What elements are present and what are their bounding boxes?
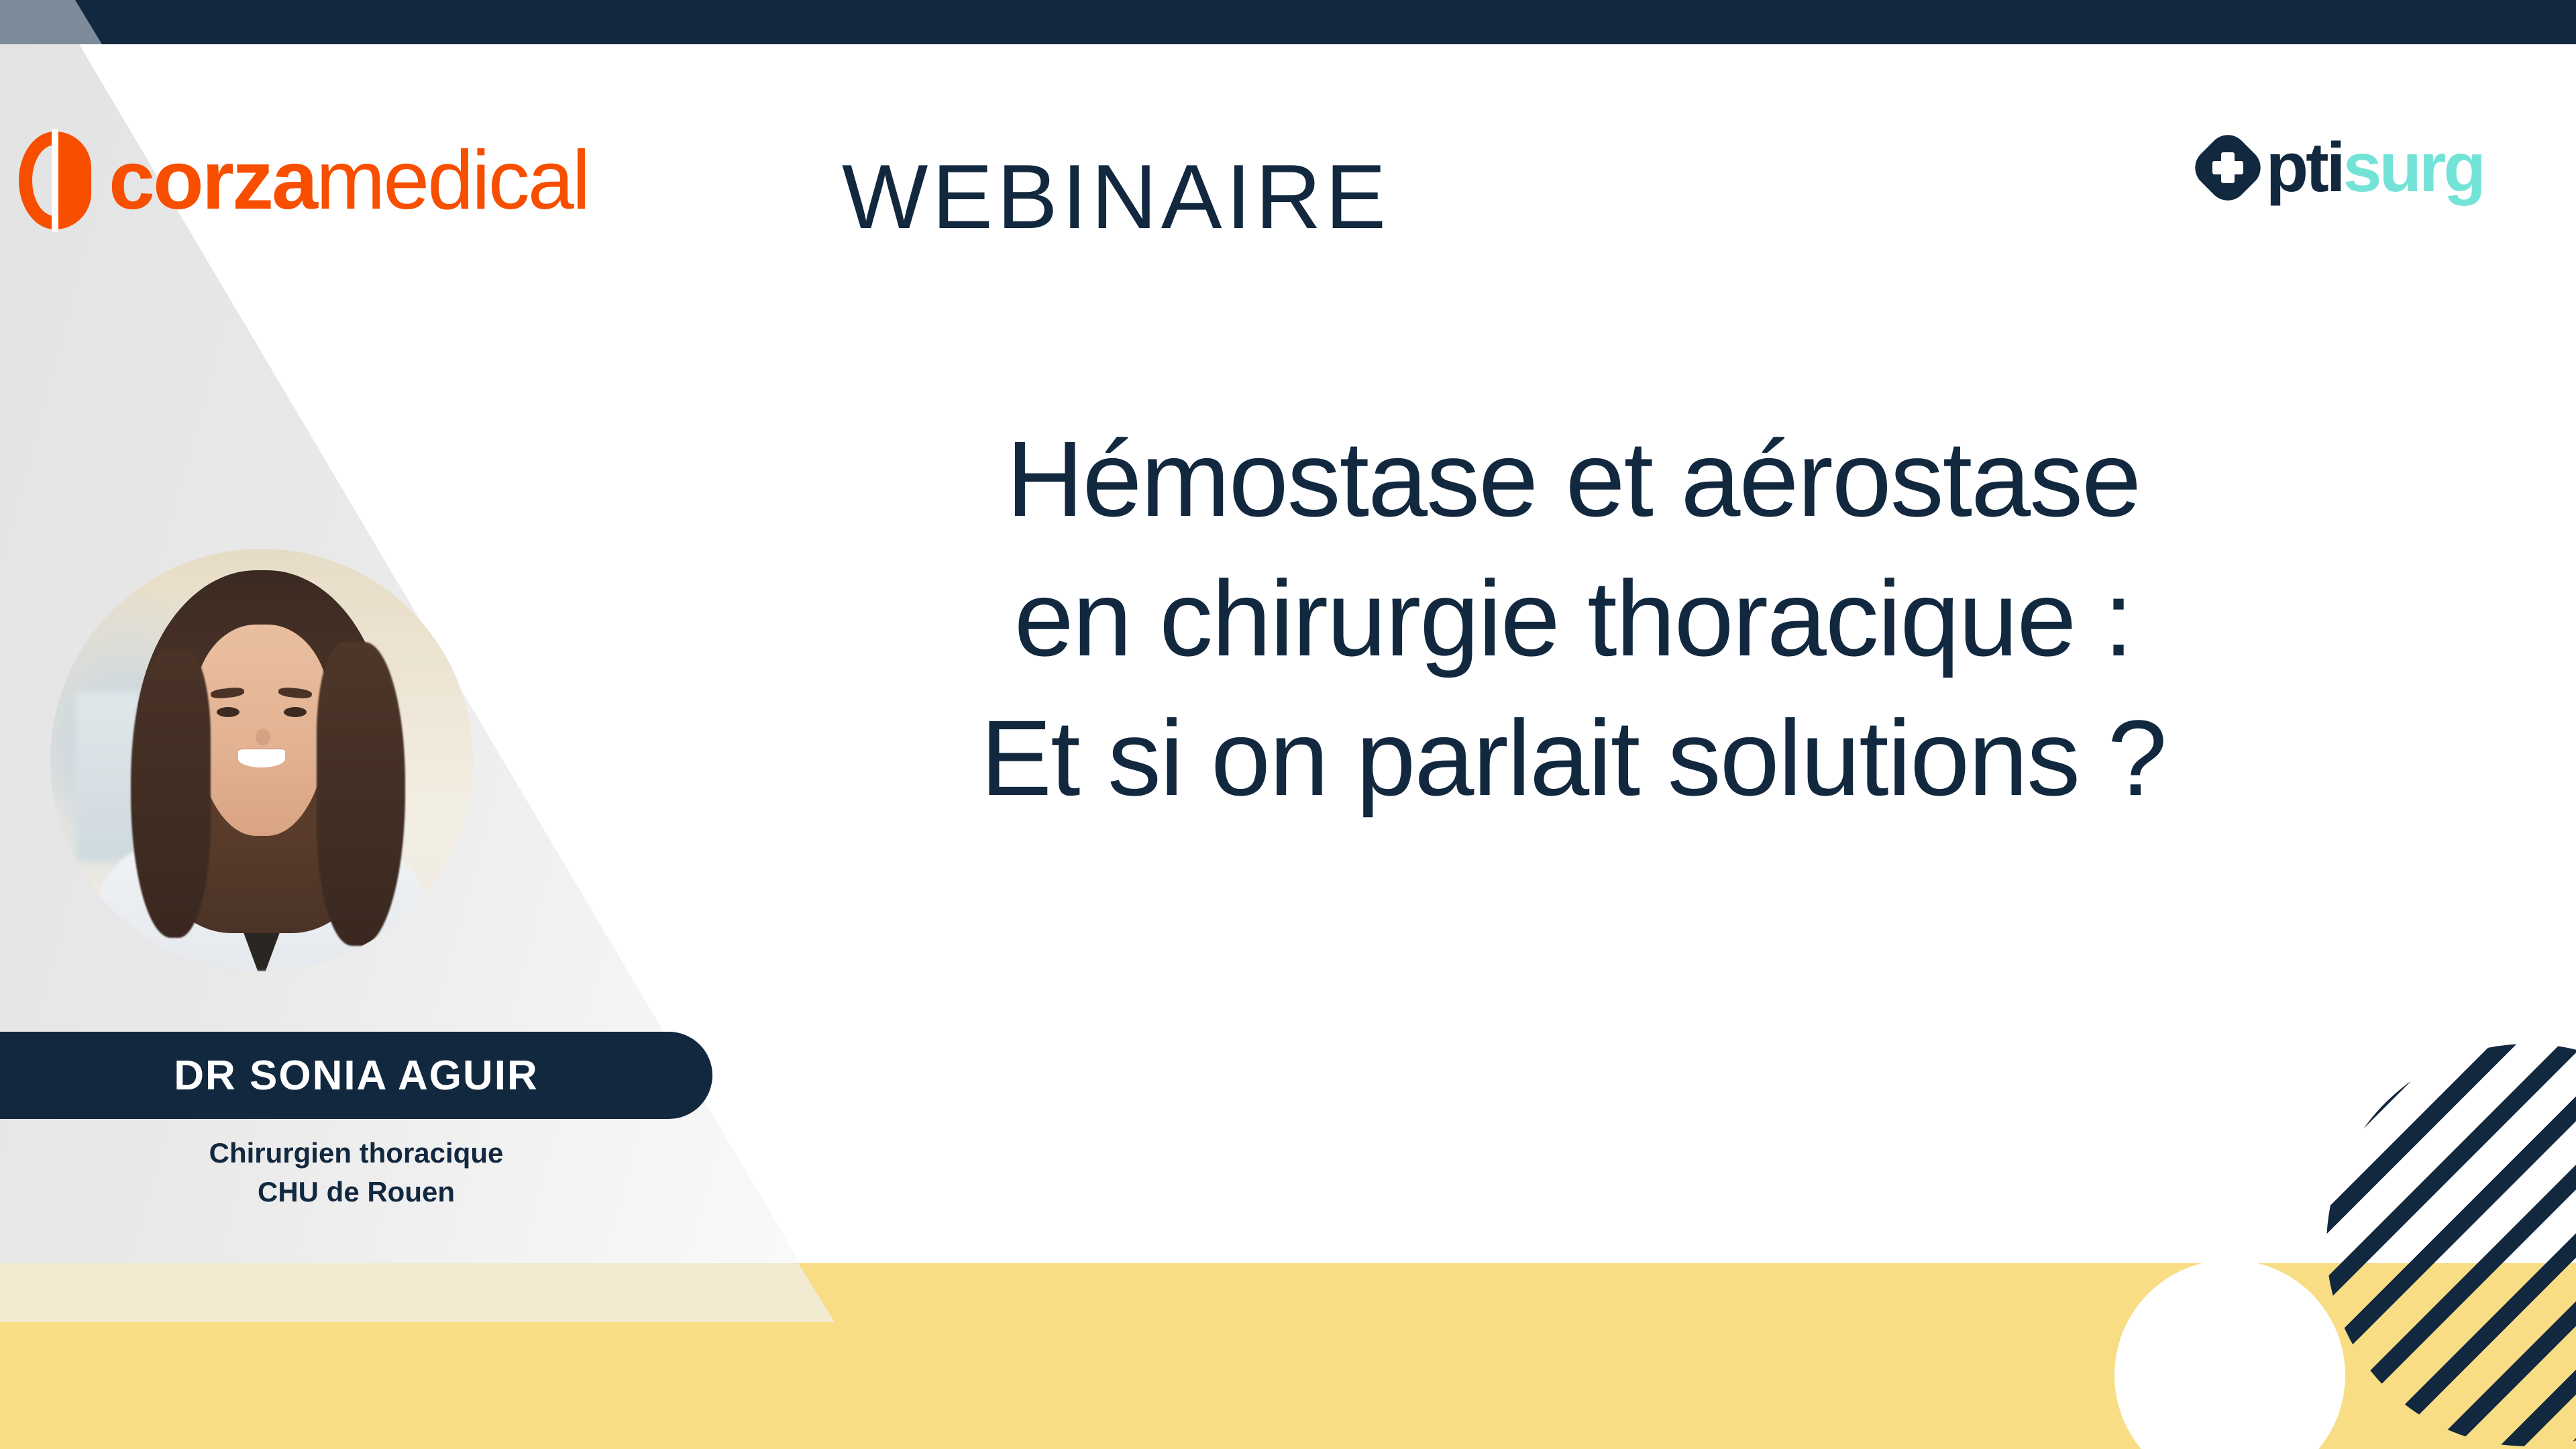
speaker-institution: CHU de Rouen	[0, 1173, 712, 1212]
speaker-avatar	[50, 549, 473, 971]
title-line-3: Et si on parlait solutions ?	[637, 688, 2509, 828]
speaker-role: Chirurgien thoracique	[0, 1134, 712, 1173]
page-title: Hémostase et aérostase en chirurgie thor…	[637, 409, 2509, 828]
corzamedical-logo[interactable]: corzamedical	[19, 131, 588, 229]
webinaire-eyebrow: WEBINAIRE	[842, 151, 1390, 242]
slide-canvas: corzamedical ptisurg WEBINAIRE Hémostase…	[0, 0, 2576, 1449]
corza-circle-mark-icon	[19, 131, 91, 229]
optisurg-logo[interactable]: ptisurg	[2199, 133, 2483, 203]
corzamedical-wordmark: corzamedical	[109, 139, 588, 222]
speaker-name: DR SONIA AGUIR	[174, 1052, 539, 1099]
opti-word-teal: surg	[2343, 129, 2483, 207]
speaker-credentials: Chirurgien thoracique CHU de Rouen	[0, 1134, 712, 1212]
opti-word-dark: pti	[2266, 129, 2343, 207]
corza-word-bold: corza	[109, 134, 316, 227]
corza-word-light: medical	[316, 134, 588, 227]
title-line-1: Hémostase et aérostase	[637, 409, 2509, 549]
title-line-2: en chirurgie thoracique :	[637, 549, 2509, 688]
grey-wedge-over-yellow	[0, 1263, 845, 1324]
optisurg-wordmark: ptisurg	[2266, 133, 2483, 203]
medical-cross-diamond-icon	[2199, 139, 2257, 197]
navy-top-bar	[0, 0, 2576, 44]
speaker-name-badge: DR SONIA AGUIR	[0, 1032, 712, 1119]
